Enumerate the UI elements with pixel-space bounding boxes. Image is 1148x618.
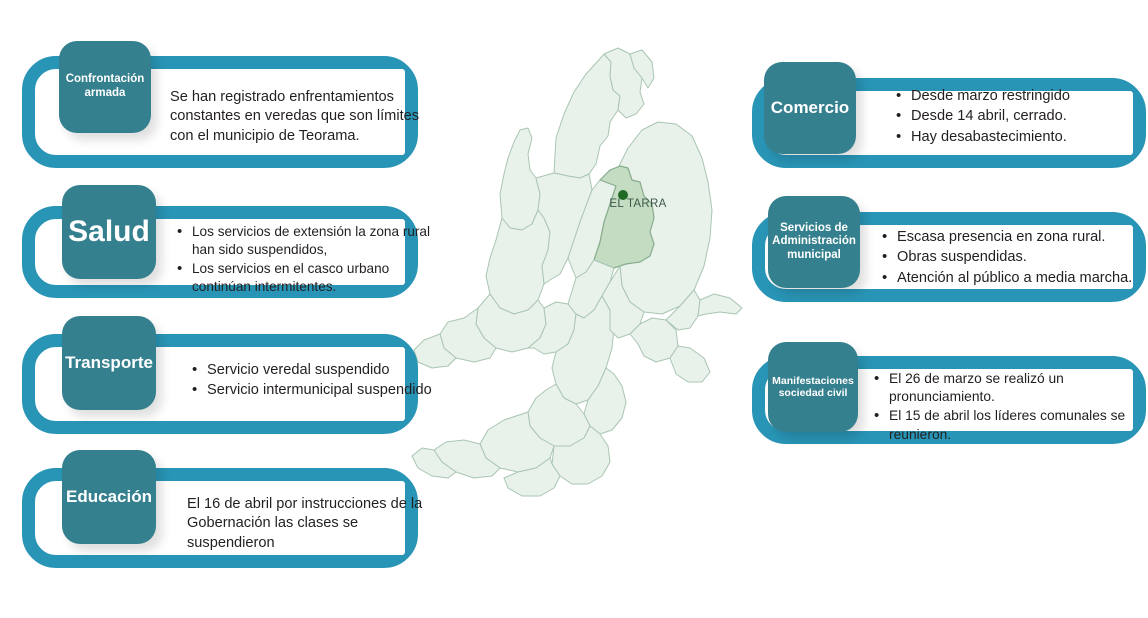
list-item: Atención al público a media marcha. <box>897 269 1148 288</box>
list-item: Servicio intermunicipal suspendido <box>207 381 440 400</box>
card-bullet-list: Escasa presencia en zona rural. Obras su… <box>880 228 1148 288</box>
list-item: Escasa presencia en zona rural. <box>897 228 1148 247</box>
badge-comercio[interactable]: Comercio <box>764 62 856 154</box>
card-confrontacion-armada[interactable]: Confrontación armada Se han registrado e… <box>22 56 418 168</box>
map-norte-de-santander <box>404 18 774 603</box>
card-bullet-list: Servicio veredal suspendido Servicio int… <box>190 361 440 401</box>
infographic-canvas: EL TARRA Confrontación armada Se han reg… <box>0 0 1148 618</box>
badge-salud[interactable]: Salud <box>62 185 156 279</box>
badge-servicios-administracion-municipal[interactable]: Servicios de Administración municipal <box>768 196 860 288</box>
list-item: Hay desabastecimiento. <box>911 128 1144 147</box>
badge-label: Confrontación armada <box>65 73 145 100</box>
card-bullet-list: Los servicios de extensión la zona rural… <box>175 223 435 296</box>
card-servicios-administracion-municipal[interactable]: Servicios de Administración municipal Es… <box>752 212 1146 302</box>
list-item: Servicio veredal suspendido <box>207 361 440 380</box>
card-transporte[interactable]: Transporte Servicio veredal suspendido S… <box>22 334 418 434</box>
list-item: El 26 de marzo se realizó un pronunciami… <box>889 370 1148 406</box>
list-item: Los servicios en el casco urbano continú… <box>192 260 435 296</box>
badge-manifestaciones-sociedad-civil[interactable]: Manifestaciones sociedad civil <box>768 342 858 432</box>
list-item: Desde 14 abril, cerrado. <box>911 107 1144 126</box>
card-body: Los servicios de extensión la zona rural… <box>175 223 435 297</box>
card-paragraph: El 16 de abril por instrucciones de la G… <box>187 495 427 553</box>
badge-label: Comercio <box>771 98 849 118</box>
card-bullet-list: Desde marzo restringido Desde 14 abril, … <box>894 87 1144 147</box>
badge-label: Manifestaciones sociedad civil <box>772 375 854 400</box>
card-body: Desde marzo restringido Desde 14 abril, … <box>894 87 1144 148</box>
el-tarra-marker <box>618 190 628 200</box>
badge-label: Servicios de Administración municipal <box>772 222 856 263</box>
card-body: El 26 de marzo se realizó un pronunciami… <box>872 370 1148 445</box>
card-body: Escasa presencia en zona rural. Obras su… <box>880 228 1148 289</box>
badge-label: Transporte <box>65 353 153 373</box>
badge-label: Salud <box>68 214 150 249</box>
card-educacion[interactable]: Educación El 16 de abril por instruccion… <box>22 468 418 568</box>
card-body: El 16 de abril por instrucciones de la G… <box>187 495 427 553</box>
badge-label: Educación <box>66 487 152 507</box>
card-bullet-list: El 26 de marzo se realizó un pronunciami… <box>872 370 1148 444</box>
badge-confrontacion-armada[interactable]: Confrontación armada <box>59 41 151 133</box>
card-body: Servicio veredal suspendido Servicio int… <box>190 361 440 402</box>
card-paragraph: Se han registrado enfrentamientos consta… <box>170 88 432 146</box>
card-comercio[interactable]: Comercio Desde marzo restringido Desde 1… <box>752 78 1146 168</box>
badge-transporte[interactable]: Transporte <box>62 316 156 410</box>
card-body: Se han registrado enfrentamientos consta… <box>170 88 432 146</box>
badge-educacion[interactable]: Educación <box>62 450 156 544</box>
list-item: El 15 de abril los líderes comunales se … <box>889 407 1148 443</box>
card-salud[interactable]: Salud Los servicios de extensión la zona… <box>22 206 418 298</box>
card-manifestaciones-sociedad-civil[interactable]: Manifestaciones sociedad civil El 26 de … <box>752 356 1146 444</box>
list-item: Los servicios de extensión la zona rural… <box>192 223 435 259</box>
list-item: Obras suspendidas. <box>897 248 1148 267</box>
list-item: Desde marzo restringido <box>911 87 1144 106</box>
